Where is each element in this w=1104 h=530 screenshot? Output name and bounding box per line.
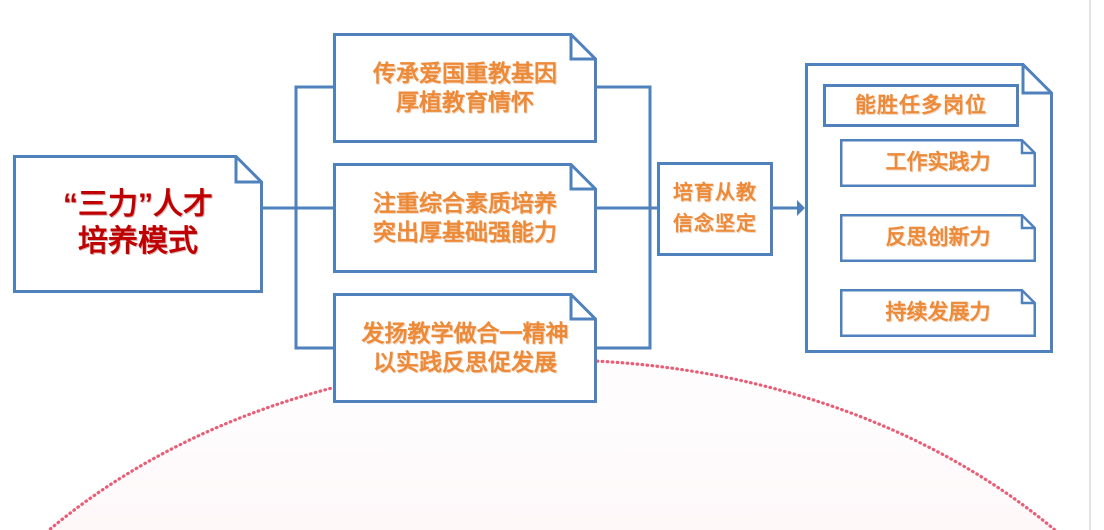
pillar-node-3-line-1: 发扬教学做合一精神 [362,319,569,348]
outcome-group: 能胜任多岗位 工作实践力 反思创新力 [805,63,1053,353]
root-node[interactable]: “三力”人才 培养模式 [13,155,263,293]
pillar-node-2[interactable]: 注重综合素质培养 突出厚基础强能力 [333,163,597,273]
midpoint-node-line-2: 信念坚定 [673,209,757,240]
outcome-item-2-label: 工作实践力 [886,150,991,175]
pillar-node-1-line-2: 厚植教育情怀 [396,88,534,117]
outcome-item-3[interactable]: 反思创新力 [840,214,1036,262]
outcome-item-3-label: 反思创新力 [886,225,991,250]
connector-arrow-to-outcomes [773,200,805,216]
pillar-node-1-line-1: 传承爱国重教基因 [373,59,557,88]
outcome-item-4-label: 持续发展力 [886,300,991,325]
slide-canvas: “三力”人才 培养模式 传承爱国重教基因 厚植教育情怀 注重综合素质培养 突出厚… [0,0,1104,530]
root-node-line-1: “三力”人才 [63,187,213,224]
midpoint-node-line-1: 培育从教 [673,178,757,209]
outcome-item-2[interactable]: 工作实践力 [840,139,1036,187]
outcome-item-4[interactable]: 持续发展力 [840,289,1036,337]
pillar-node-2-line-1: 注重综合素质培养 [373,189,557,218]
pillar-node-3-line-2: 以实践反思促发展 [373,348,557,377]
midpoint-node[interactable]: 培育从教 信念坚定 [657,162,773,256]
outcome-item-1-label: 能胜任多岗位 [855,93,987,118]
pillar-node-3[interactable]: 发扬教学做合一精神 以实践反思促发展 [333,293,597,403]
outcome-item-1[interactable]: 能胜任多岗位 [823,84,1019,127]
root-node-line-2: 培养模式 [78,224,198,261]
pillar-node-2-line-2: 突出厚基础强能力 [373,218,557,247]
pillar-node-1[interactable]: 传承爱国重教基因 厚植教育情怀 [333,33,597,143]
